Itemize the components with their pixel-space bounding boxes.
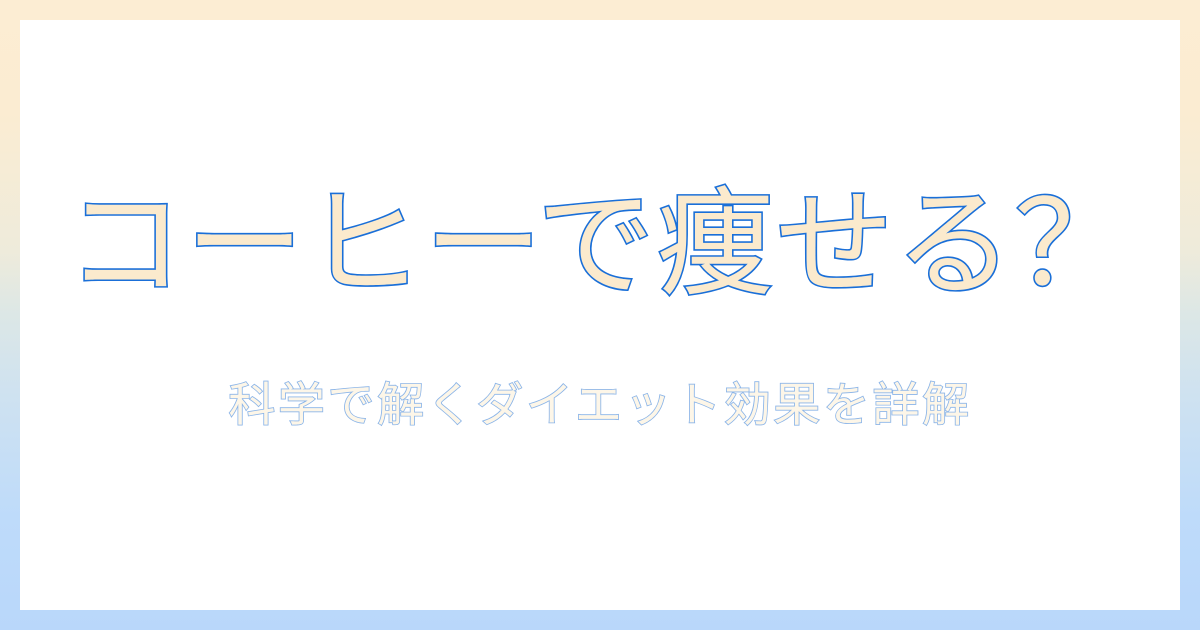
page-subtitle: 科学で解くダイエット効果を詳解 bbox=[228, 378, 971, 434]
page-title: コーヒーで痩せる？ bbox=[66, 175, 1134, 314]
banner-frame: コーヒーで痩せる？ 科学で解くダイエット効果を詳解 bbox=[0, 0, 1200, 630]
banner-card: コーヒーで痩せる？ 科学で解くダイエット効果を詳解 bbox=[20, 20, 1180, 610]
subtitle-container: 科学で解くダイエット効果を詳解 bbox=[20, 378, 1180, 434]
title-container: コーヒーで痩せる？ bbox=[20, 175, 1180, 314]
